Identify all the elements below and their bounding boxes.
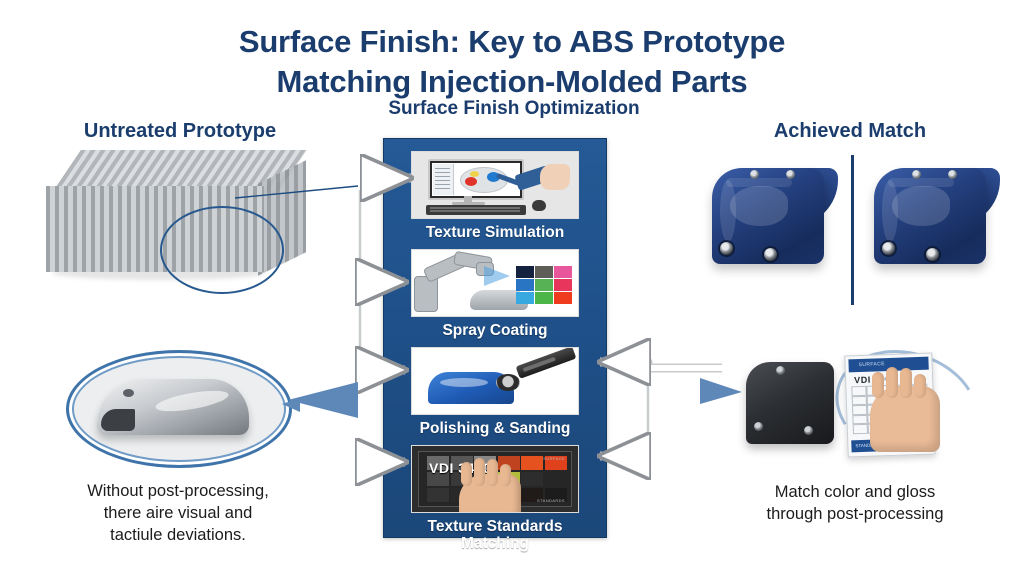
right-caption-line-2: through post-processing [766,505,943,523]
right-column-heading: Achieved Match [700,120,1000,143]
screw-icon [720,242,733,255]
step-label: Texture Simulation [384,224,606,241]
right-caption-line-1: Match color and gloss [775,483,936,501]
vdi-card-header-text: SURFACE [858,361,885,368]
robot-spray-icon [411,249,579,317]
step-label: Polishing & Sanding [384,420,606,437]
screw-icon [882,242,895,255]
left-caption: Without post-processing, there aire visu… [28,481,328,546]
mouse-underside [101,409,135,431]
surface-finish-optimization-panel: Texture Simulation Spray Coating [383,138,607,538]
housing-body [712,168,824,264]
step-label: Texture Standards Matching [384,518,606,553]
screw-icon [764,248,777,261]
lattice-block-icon [40,150,312,290]
vdi-plate-tag-bottom: STANDARDS [537,498,565,503]
right-caption: Match color and gloss through post-proce… [700,482,1010,526]
screw-icon [912,170,921,179]
hand-icon [459,474,521,513]
screw-icon [750,170,759,179]
hand-icon [870,386,940,452]
polishing-tool-icon [411,347,579,415]
housing-body [874,168,986,264]
center-section-heading: Surface Finish Optimization [324,98,704,120]
dark-housing-icon [746,362,834,444]
screw-icon [948,170,957,179]
vdi-plate-icon: SURFACE STANDARDS VDI 3400 [411,445,579,513]
left-caption-line-1: Without post-processing, [87,482,269,500]
monitor-scanner-icon [411,151,579,219]
screw-icon [926,248,939,261]
finished-blue-housing-icon [874,160,1002,270]
finished-blue-housing-icon [712,160,840,270]
mouse-button-hole [123,389,134,397]
step-polishing-sanding[interactable]: Polishing & Sanding [384,347,606,437]
left-column-heading: Untreated Prototype [30,120,330,143]
coating-color-swatches [516,266,572,304]
left-caption-line-2: there aire visual and [104,504,253,522]
rough-mouse-shell-icon [66,350,292,468]
comparison-divider [851,155,854,305]
step-label-line-1: Texture Standards [428,518,563,535]
vdi-standard-card-group: SURFACE VDI 500 STANDARD [742,348,972,460]
infographic-canvas: Surface Finish: Key to ABS Prototype Mat… [0,0,1024,576]
vdi-plate-tag-top: SURFACE [543,456,565,461]
mouse-highlight [154,387,230,416]
step-texture-standards-matching[interactable]: SURFACE STANDARDS VDI 3400 Texture Stand… [384,445,606,553]
title-line-2: Matching Injection-Molded Parts [0,62,1024,102]
step-texture-simulation[interactable]: Texture Simulation [384,151,606,241]
screw-icon [786,170,795,179]
lattice-callout-ellipse [160,206,284,294]
mouse-body [97,379,249,435]
step-label-line-2: Matching [461,535,529,552]
left-caption-line-3: tactiule deviations. [110,526,246,544]
step-spray-coating[interactable]: Spray Coating [384,249,606,339]
title-line-1: Surface Finish: Key to ABS Prototype [239,24,785,59]
page-title: Surface Finish: Key to ABS Prototype Mat… [0,22,1024,101]
step-label: Spray Coating [384,322,606,339]
